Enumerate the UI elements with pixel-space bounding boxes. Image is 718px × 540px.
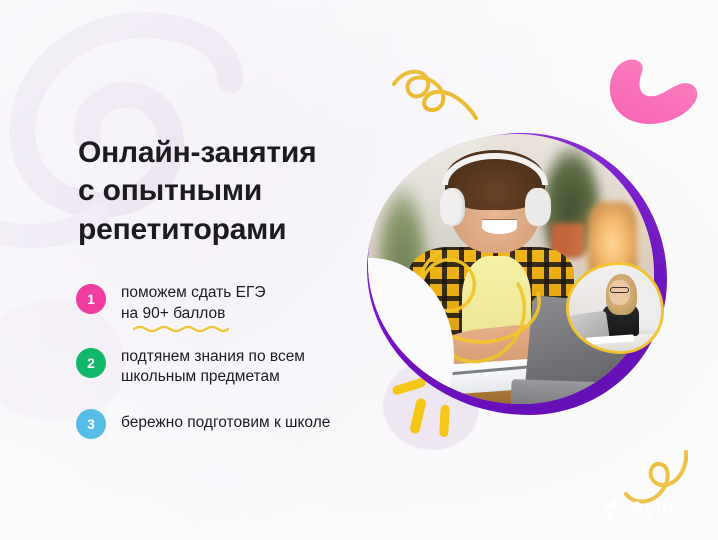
- avito-logo-icon: [604, 500, 626, 520]
- promo-poster: Онлайн-занятия с опытными репетиторами 1…: [0, 0, 718, 540]
- avito-watermark: Avito: [604, 497, 682, 523]
- list-item: 2 подтянем знания по всем школьным предм…: [76, 347, 406, 389]
- list-item: 1 поможем сдать ЕГЭ на 90+ баллов: [76, 283, 406, 325]
- page-title: Онлайн-занятия с опытными репетиторами: [78, 134, 378, 249]
- feature-text-2: подтянем знания по всем школьным предмет…: [121, 347, 305, 389]
- feature-badge-2: 2: [76, 348, 106, 378]
- avito-brand-text: Avito: [629, 497, 682, 523]
- feature-badge-3: 3: [76, 409, 106, 439]
- background-vignette: [0, 0, 718, 540]
- list-item: 3 бережно подготовим к школе: [76, 408, 406, 439]
- feature-list: 1 поможем сдать ЕГЭ на 90+ баллов 2 подт…: [76, 283, 406, 439]
- feature-badge-1: 1: [76, 284, 106, 314]
- feature-text-3: бережно подготовим к школе: [121, 408, 330, 434]
- feature-text-1: поможем сдать ЕГЭ на 90+ баллов: [121, 283, 266, 325]
